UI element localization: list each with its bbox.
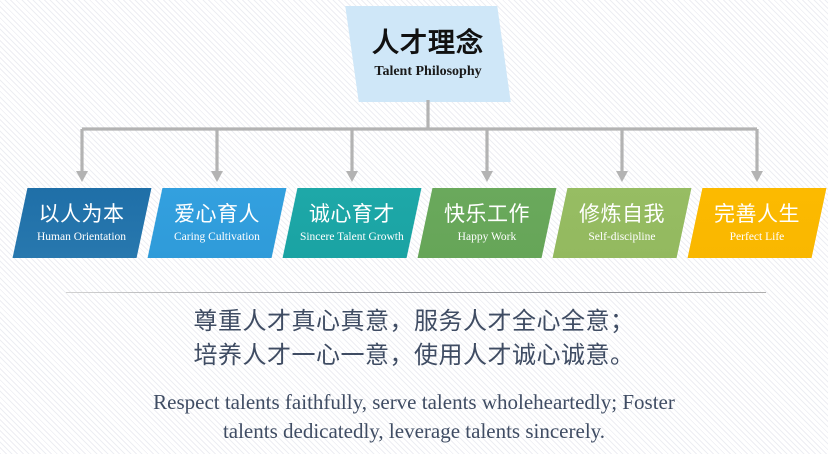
slogan-en-line-1: Respect talents faithfully, serve talent… [0, 388, 828, 417]
pillar-text-group: 完善人生 Perfect Life [714, 203, 800, 243]
pillar-label-en: Self-discipline [579, 230, 665, 243]
pillar-label-en: Human Orientation [37, 230, 126, 243]
pillar-caring-cultivation[interactable]: 爱心育人 Caring Cultivation [148, 188, 287, 258]
pillar-label-en: Sincere Talent Growth [300, 230, 404, 243]
banner-text-group: 人才理念 Talent Philosophy [372, 28, 484, 80]
pillar-text-group: 诚心育才 Sincere Talent Growth [300, 203, 404, 243]
pillar-label-cn: 诚心育才 [300, 203, 404, 227]
talent-philosophy-infographic: 人才理念 Talent Philosophy 以人为本 Human Orient… [0, 0, 828, 454]
section-divider [66, 292, 766, 293]
slogan-chinese: 尊重人才真心真意，服务人才全心全意； 培养人才一心一意，使用人才诚心诚意。 [0, 305, 828, 373]
pillar-label-en: Happy Work [444, 230, 530, 243]
pillar-label-cn: 修炼自我 [579, 203, 665, 227]
slogan-en-line-2: talents dedicatedly, leverage talents si… [0, 417, 828, 446]
slogan-english: Respect talents faithfully, serve talent… [0, 388, 828, 446]
pillar-label-cn: 完善人生 [714, 203, 800, 227]
banner-talent-philosophy: 人才理念 Talent Philosophy [345, 6, 510, 102]
pillar-text-group: 快乐工作 Happy Work [444, 203, 530, 243]
pillar-text-group: 爱心育人 Caring Cultivation [174, 203, 260, 243]
slogan-cn-line-1: 尊重人才真心真意，服务人才全心全意； [0, 305, 828, 339]
pillar-label-cn: 快乐工作 [444, 203, 530, 227]
pillar-sincere-talent-growth[interactable]: 诚心育才 Sincere Talent Growth [283, 188, 422, 258]
pillar-row: 以人为本 Human Orientation 爱心育人 Caring Culti… [18, 188, 818, 258]
pillar-perfect-life[interactable]: 完善人生 Perfect Life [688, 188, 827, 258]
pillar-label-cn: 爱心育人 [174, 203, 260, 227]
pillar-human-orientation[interactable]: 以人为本 Human Orientation [13, 188, 152, 258]
pillar-label-en: Caring Cultivation [174, 230, 260, 243]
pillar-text-group: 修炼自我 Self-discipline [579, 203, 665, 243]
pillar-self-discipline[interactable]: 修炼自我 Self-discipline [553, 188, 692, 258]
slogan-cn-line-2: 培养人才一心一意，使用人才诚心诚意。 [0, 339, 828, 373]
banner-title-en: Talent Philosophy [372, 64, 484, 80]
pillar-text-group: 以人为本 Human Orientation [37, 203, 126, 243]
pillar-happy-work[interactable]: 快乐工作 Happy Work [418, 188, 557, 258]
pillar-label-en: Perfect Life [714, 230, 800, 243]
pillar-label-cn: 以人为本 [37, 203, 126, 227]
banner-title-cn: 人才理念 [372, 28, 484, 59]
